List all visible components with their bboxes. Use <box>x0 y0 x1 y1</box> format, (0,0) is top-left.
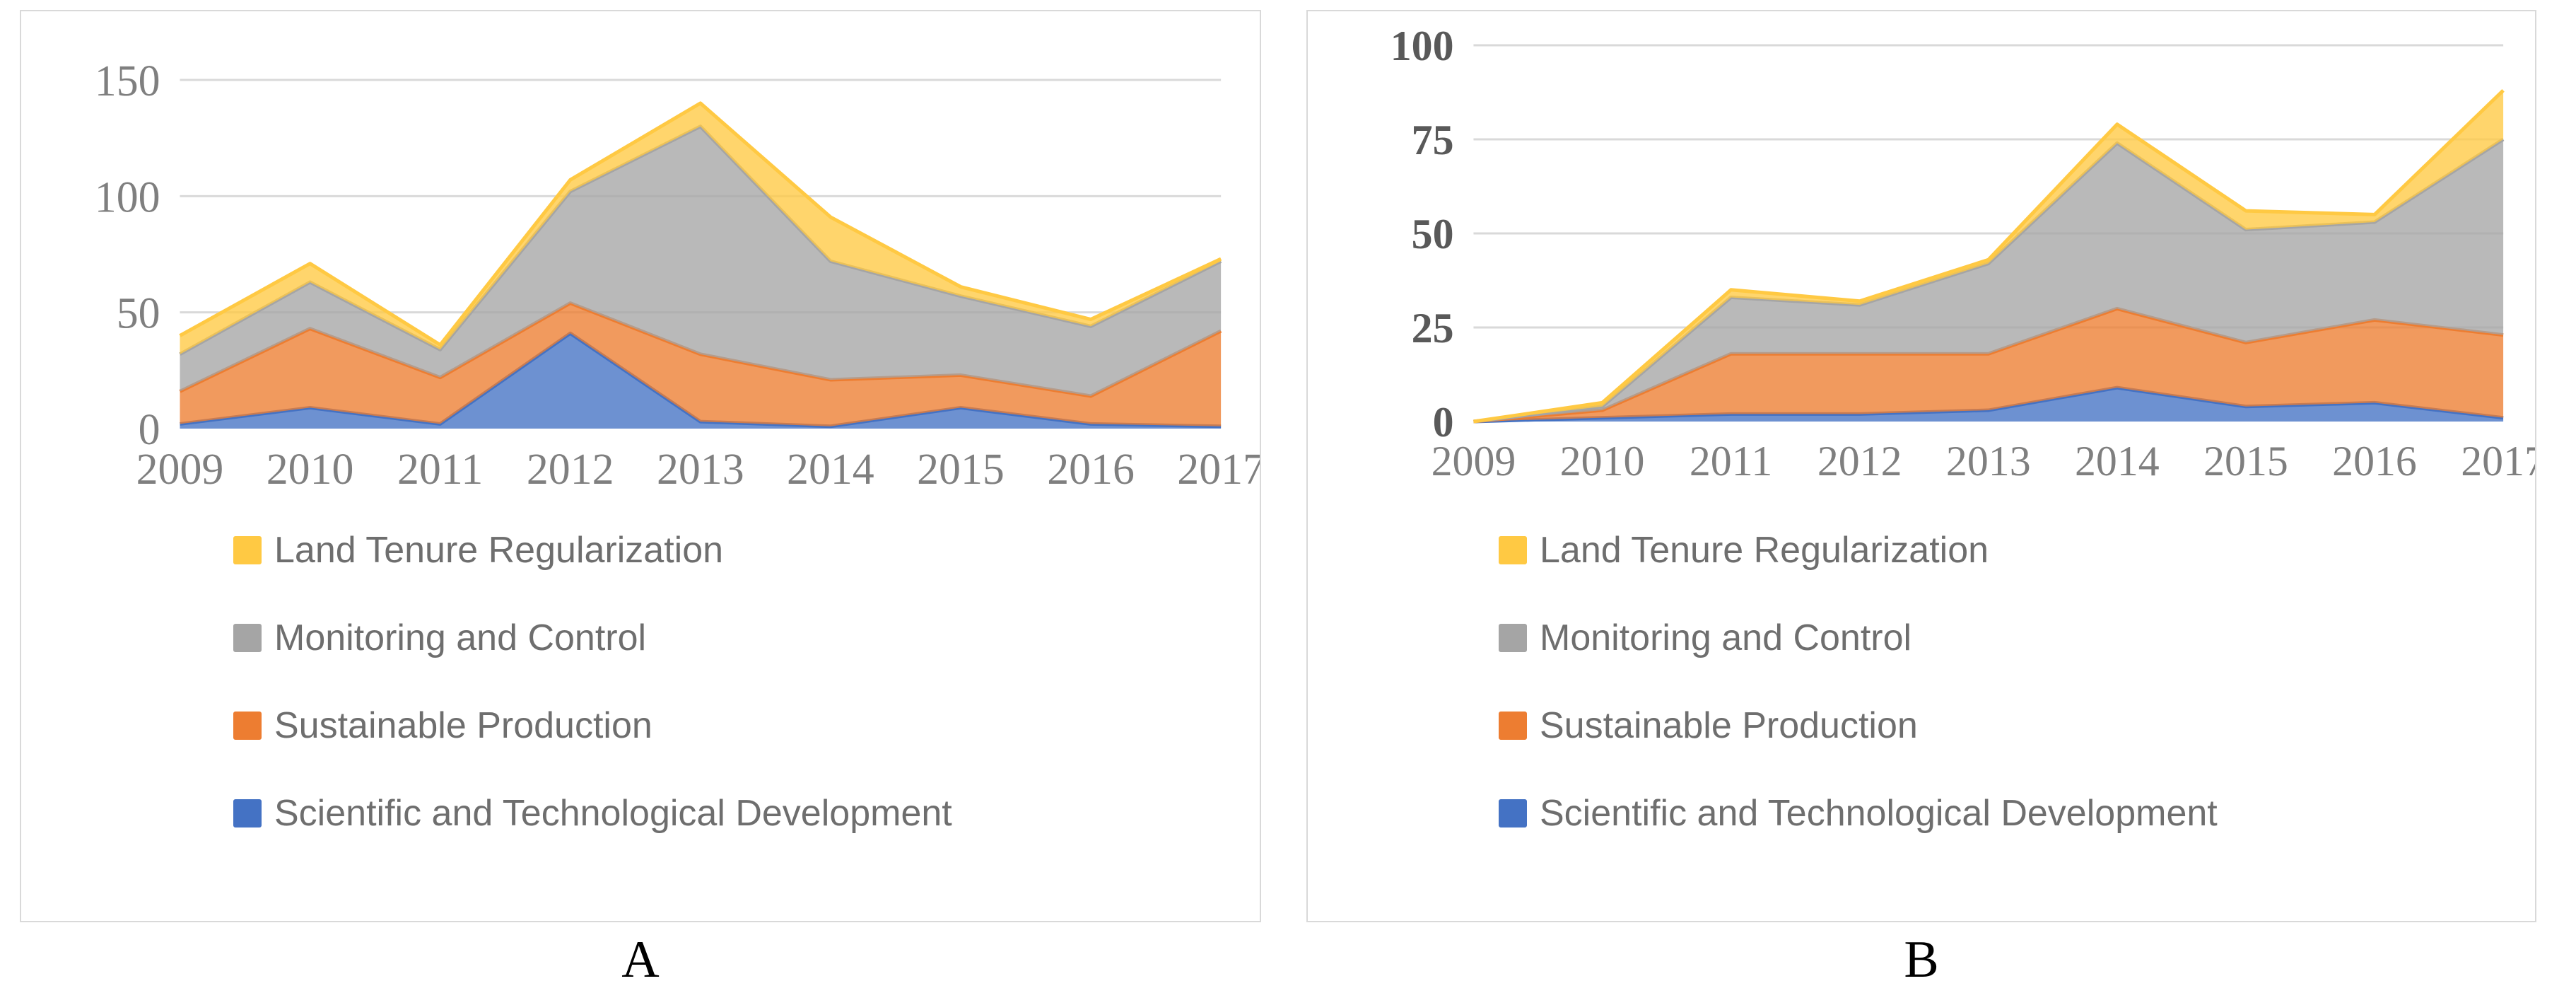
legend-label-land-tenure-regularization: Land Tenure Regularization <box>1540 532 1989 569</box>
panel-a-box: 0501001502009201020112012201320142015201… <box>20 10 1261 922</box>
legend-swatch-sustainable-production <box>233 712 262 740</box>
legend-item-sustainable-production[interactable]: Sustainable Production <box>1308 682 2535 770</box>
panel-b-plot-area: 0255075100200920102011201220132014201520… <box>1308 11 2535 506</box>
x-axis-tick-label: 2014 <box>2075 438 2160 484</box>
x-axis-tick-label: 2009 <box>1432 438 1516 484</box>
panel-b-legend: Land Tenure Regularization Monitoring an… <box>1308 506 2535 857</box>
x-axis-tick-label: 2016 <box>1047 446 1135 494</box>
x-axis-tick-label: 2012 <box>527 446 614 494</box>
x-axis-tick-label: 2017 <box>1177 446 1260 494</box>
legend-item-monitoring-and-control[interactable]: Monitoring and Control <box>1308 594 2535 682</box>
legend-swatch-scientific-and-technological-development <box>1499 799 1527 827</box>
legend-item-scientific-and-technological-development[interactable]: Scientific and Technological Development <box>1308 770 2535 857</box>
y-axis-tick-label: 100 <box>1391 23 1454 69</box>
x-axis-tick-label: 2013 <box>657 446 744 494</box>
x-axis-tick-label: 2014 <box>787 446 874 494</box>
y-axis-tick-label: 25 <box>1412 305 1454 352</box>
y-axis-tick-label: 150 <box>95 57 160 105</box>
panel-a-caption: A <box>20 934 1261 986</box>
y-axis-tick-label: 75 <box>1412 117 1454 163</box>
legend-label-scientific-and-technological-development: Scientific and Technological Development <box>274 795 952 832</box>
legend-item-monitoring-and-control[interactable]: Monitoring and Control <box>21 594 1260 682</box>
x-axis-tick-label: 2010 <box>267 446 354 494</box>
legend-label-monitoring-and-control: Monitoring and Control <box>274 620 646 656</box>
x-axis-tick-label: 2017 <box>2461 438 2535 484</box>
x-axis-tick-label: 2013 <box>1946 438 2031 484</box>
y-axis-tick-label: 100 <box>95 173 160 221</box>
x-axis-tick-label: 2011 <box>1690 438 1772 484</box>
legend-swatch-monitoring-and-control <box>1499 624 1527 652</box>
panel-a: 0501001502009201020112012201320142015201… <box>20 10 1261 986</box>
panel-a-plot-area: 0501001502009201020112012201320142015201… <box>21 11 1260 506</box>
area-chart-a: 0501001502009201020112012201320142015201… <box>21 11 1260 506</box>
x-axis-tick-label: 2010 <box>1560 438 1645 484</box>
panel-container: 0501001502009201020112012201320142015201… <box>0 0 2576 986</box>
legend-label-land-tenure-regularization: Land Tenure Regularization <box>274 532 723 569</box>
y-axis-tick-label: 50 <box>1412 211 1454 257</box>
legend-label-scientific-and-technological-development: Scientific and Technological Development <box>1540 795 2218 832</box>
legend-swatch-monitoring-and-control <box>233 624 262 652</box>
x-axis-tick-label: 2009 <box>136 446 224 494</box>
y-axis-tick-label: 50 <box>117 290 160 338</box>
legend-label-monitoring-and-control: Monitoring and Control <box>1540 620 1911 656</box>
panel-b: 0255075100200920102011201220132014201520… <box>1306 10 2536 986</box>
legend-swatch-land-tenure-regularization <box>233 536 262 564</box>
legend-item-scientific-and-technological-development[interactable]: Scientific and Technological Development <box>21 770 1260 857</box>
legend-swatch-scientific-and-technological-development <box>233 799 262 827</box>
x-axis-tick-label: 2016 <box>2332 438 2417 484</box>
x-axis-tick-label: 2015 <box>2203 438 2288 484</box>
panel-b-caption: B <box>1306 934 2536 986</box>
x-axis-tick-label: 2011 <box>397 446 483 494</box>
x-axis-tick-label: 2015 <box>917 446 1005 494</box>
legend-label-sustainable-production: Sustainable Production <box>274 707 652 744</box>
area-chart-b: 0255075100200920102011201220132014201520… <box>1308 11 2535 506</box>
legend-label-sustainable-production: Sustainable Production <box>1540 707 1918 744</box>
legend-item-land-tenure-regularization[interactable]: Land Tenure Regularization <box>21 506 1260 594</box>
legend-swatch-land-tenure-regularization <box>1499 536 1527 564</box>
legend-swatch-sustainable-production <box>1499 712 1527 740</box>
figure-root: 0501001502009201020112012201320142015201… <box>0 0 2576 993</box>
legend-item-sustainable-production[interactable]: Sustainable Production <box>21 682 1260 770</box>
legend-item-land-tenure-regularization[interactable]: Land Tenure Regularization <box>1308 506 2535 594</box>
panel-b-box: 0255075100200920102011201220132014201520… <box>1306 10 2536 922</box>
panel-a-legend: Land Tenure Regularization Monitoring an… <box>21 506 1260 857</box>
x-axis-tick-label: 2012 <box>1817 438 1902 484</box>
